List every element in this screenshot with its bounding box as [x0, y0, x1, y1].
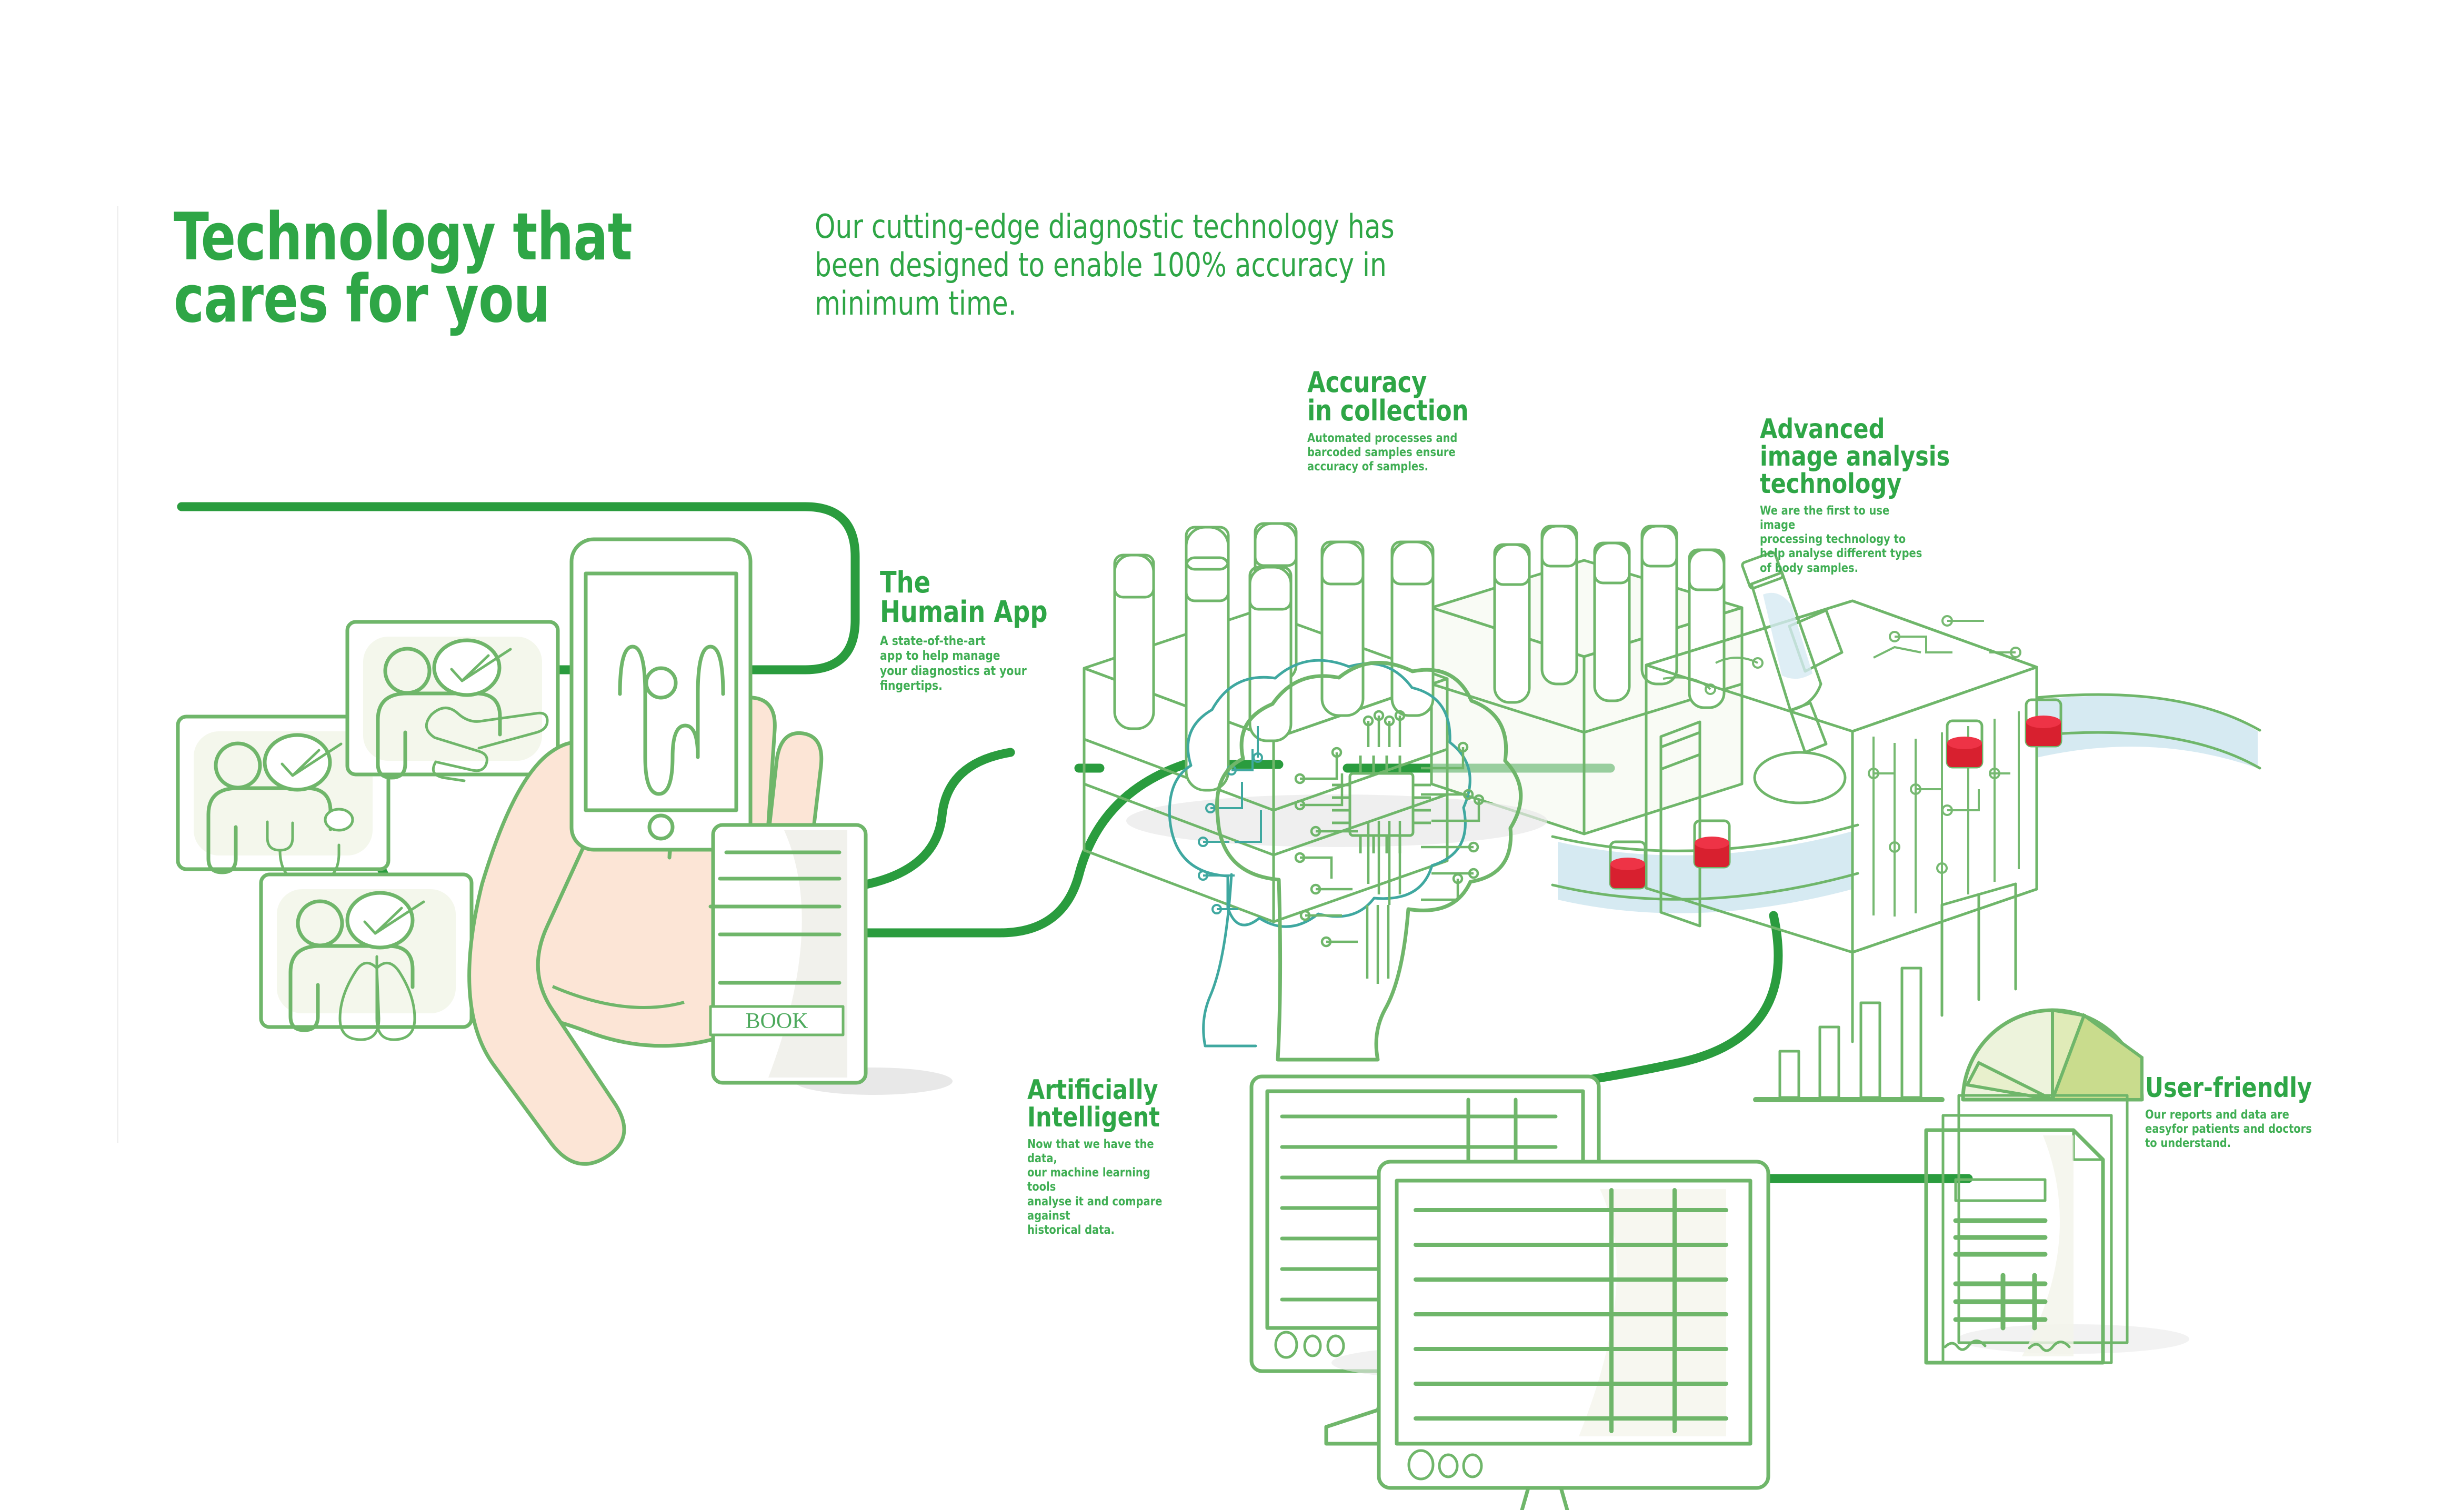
step-body: Automated processes and barcoded samples… — [1307, 431, 1470, 474]
step-title: Advanced image analysis technology — [1760, 416, 1973, 498]
book-button-label: BOOK — [745, 1009, 808, 1033]
conveyor-vial — [1947, 721, 1982, 767]
pie-chart — [1963, 1010, 2142, 1100]
step-title: The Humain App — [880, 568, 1088, 627]
diagnostic-card-lungs — [261, 874, 472, 1040]
step-body: A state-of-the-art app to help manage yo… — [880, 633, 1033, 693]
step-artificially-intelligent: Artificially Intelligent Now that we hav… — [1027, 1076, 1254, 1237]
step-accuracy-in-collection: Accuracy in collection Automated process… — [1307, 368, 1534, 474]
bar-chart — [1756, 968, 1942, 1100]
step-advanced-image-analysis: Advanced image analysis technology We ar… — [1760, 416, 1991, 576]
step-body: Our reports and data are easyfor patient… — [2145, 1108, 2318, 1151]
step-title: Artificially Intelligent — [1027, 1076, 1236, 1131]
step-user-friendly: User-friendly Our reports and data are e… — [2145, 1074, 2371, 1151]
process-illustration: .ln{fill:none;stroke:#6FB66A;stroke-widt… — [0, 0, 2464, 1510]
monitor-front — [1331, 1162, 1768, 1510]
step-the-humain-app: The Humain App A state-of-the-art app to… — [880, 568, 1106, 693]
step-body: We are the first to use image processing… — [1760, 504, 1923, 576]
step-title: User-friendly — [2145, 1074, 2353, 1102]
step-body: Now that we have the data, our machine l… — [1027, 1137, 1176, 1237]
diagnostic-card-pancreas — [347, 622, 558, 781]
step-title: Accuracy in collection — [1307, 368, 1516, 425]
infographic-canvas: Technology that cares for you Our cuttin… — [0, 0, 2464, 1510]
